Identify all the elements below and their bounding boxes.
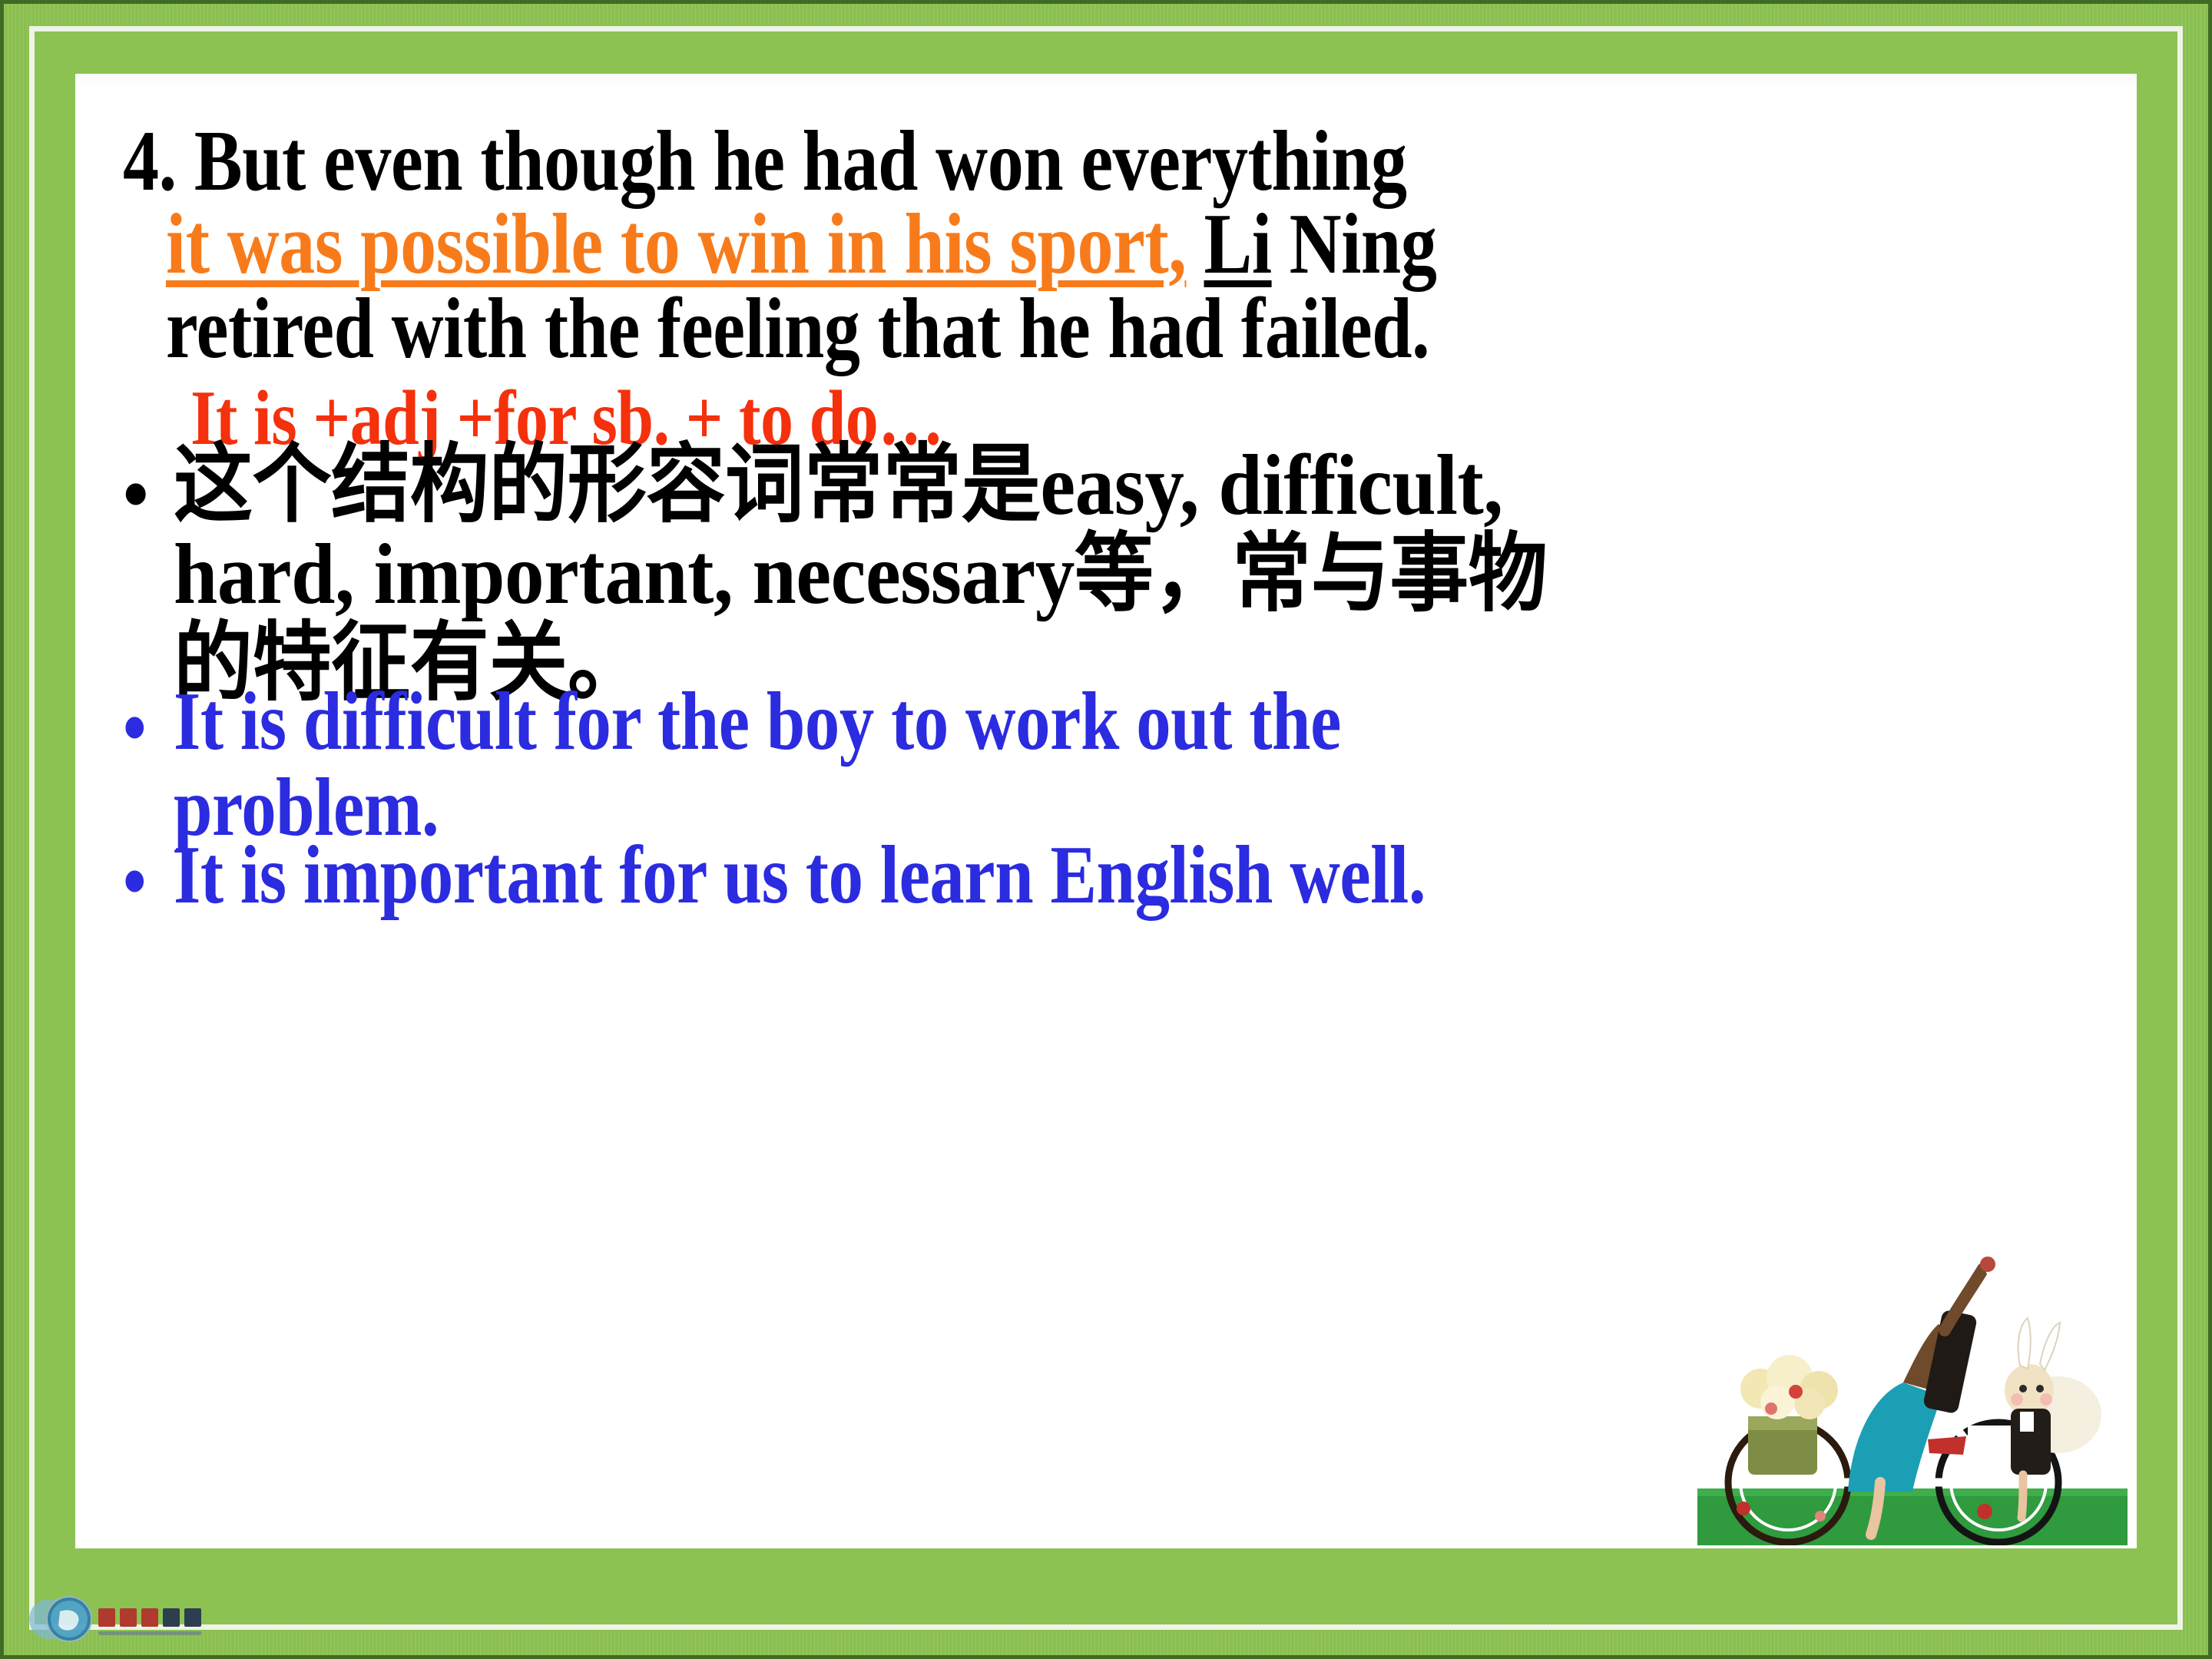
explanation-bullet: • [123,455,148,535]
item4-line3: retired with the feeling that he had fai… [166,286,1429,372]
item4-line1: 4. But even though he had won everything [123,118,1407,204]
example2-bullet: • [123,842,146,922]
slide-frame: 4. But even though he had won everything… [0,0,2212,1659]
item4-line1-text: But even though he had won everything [194,114,1407,209]
item4-line2: it was possible to win in his sport, Li … [166,201,1436,287]
item4-number: 4. [123,114,194,209]
example2-line1: It is important for us to learn English … [174,834,1426,917]
girl-riding-bicycle-illustration [1697,1238,2128,1545]
slide-content-area: 4. But even though he had won everything… [75,74,2137,1548]
item4-name-plain: Ning [1290,197,1437,292]
scan-artifact-band [75,74,2137,94]
explanation-line2: hard, important, necessary等，常与事物 [174,531,1547,618]
explanation-line1: 这个结构的形容词常常是easy, difficult, [174,442,1503,528]
item4-highlight-orange: it was possible to win in his sport, [166,197,1186,292]
publisher-circular-logo [23,1588,276,1648]
item4-name-underlined: Li [1204,197,1272,292]
example1-line1: It is difficult for the boy to work out … [174,680,1341,763]
example1-bullet: • [123,688,146,768]
